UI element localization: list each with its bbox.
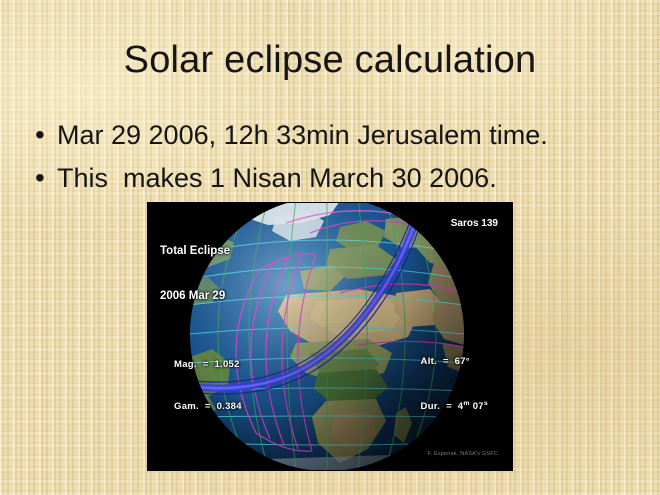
duration-label: Dur. = 4m 07s: [421, 397, 488, 414]
altitude-label: Alt. = 67°: [421, 355, 488, 369]
gamma-label: Gam. = 0.384: [174, 400, 242, 414]
list-item: • Mar 29 2006, 12h 33min Jerusalem time.: [30, 118, 630, 152]
bullet-marker-icon: •: [30, 161, 57, 195]
duration-seconds-unit: s: [484, 400, 488, 407]
list-item: • This makes 1 Nisan March 30 2006.: [30, 161, 630, 195]
bullet-list: • Mar 29 2006, 12h 33min Jerusalem time.…: [30, 118, 630, 204]
figure-title-line1: Total Eclipse: [160, 244, 230, 259]
duration-prefix: Dur. = 4: [421, 401, 464, 412]
magnitude-label: Mag. = 1.052: [174, 358, 242, 372]
bullet-text: Mar 29 2006, 12h 33min Jerusalem time.: [57, 118, 548, 152]
credit-label: F. Espenak, NASA's GSFC: [428, 447, 498, 462]
bullet-text: This makes 1 Nisan March 30 2006.: [57, 161, 497, 195]
slide-canvas: Solar eclipse calculation • Mar 29 2006,…: [0, 0, 660, 495]
figure-title-line2: 2006 Mar 29: [160, 289, 230, 304]
altitude-duration-block: Alt. = 67° Dur. = 4m 07s: [421, 327, 488, 442]
figure-title: Total Eclipse 2006 Mar 29: [160, 214, 230, 334]
bullet-marker-icon: •: [30, 118, 57, 152]
eclipse-diagram-image: Total Eclipse 2006 Mar 29 Saros 139 Mag.…: [148, 203, 512, 470]
magnitude-gamma-block: Mag. = 1.052 Gam. = 0.384: [174, 330, 242, 442]
duration-seconds-value: 07: [470, 401, 484, 412]
saros-label: Saros 139: [451, 216, 498, 231]
page-title: Solar eclipse calculation: [0, 38, 660, 82]
